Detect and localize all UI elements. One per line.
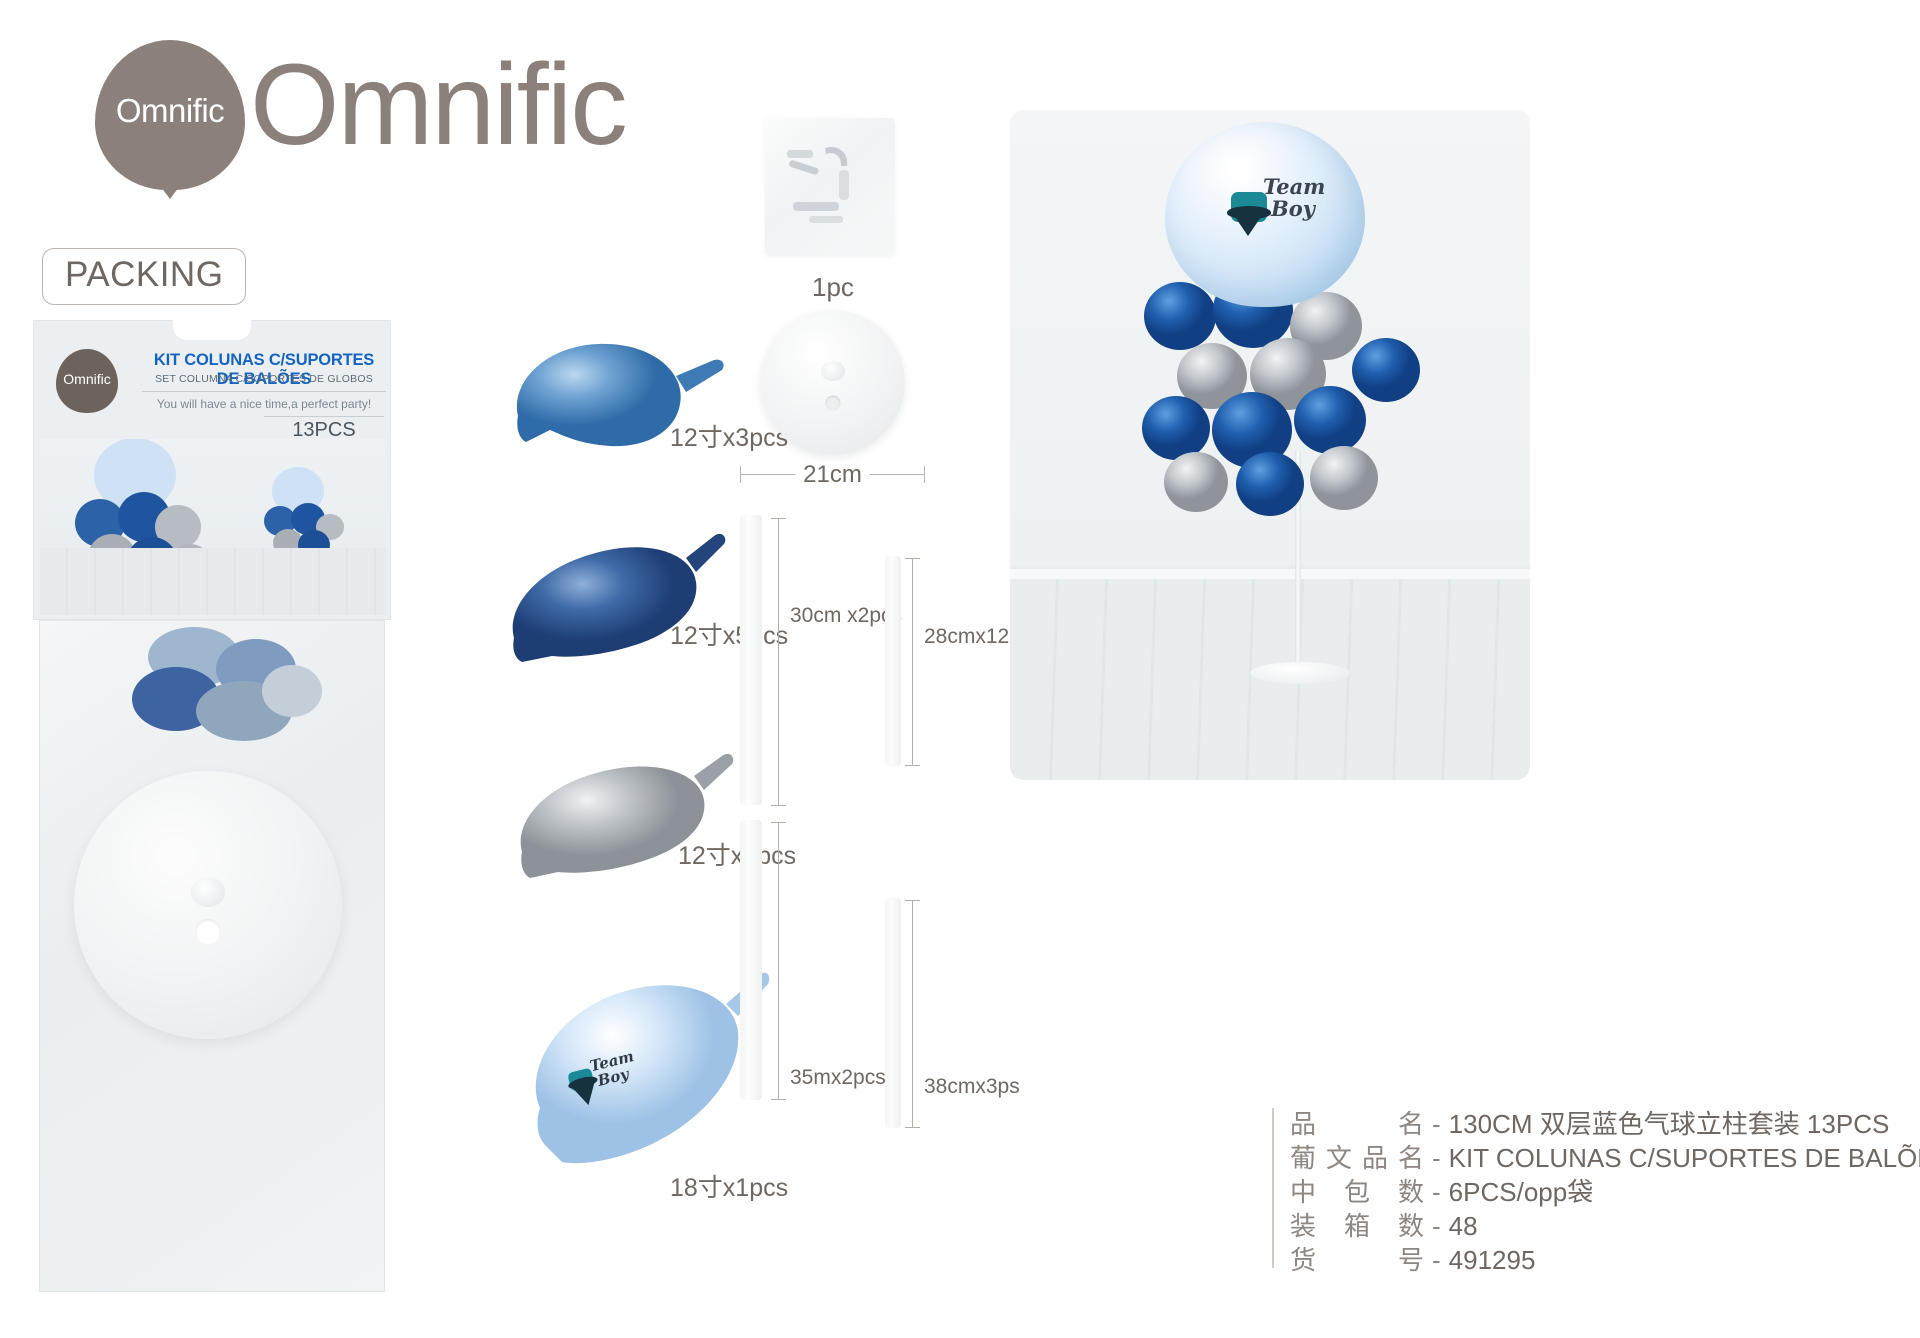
hero-product-photo: Team Boy	[1010, 110, 1530, 780]
balloon-blue-dark-icon	[500, 520, 750, 680]
dimension-line-icon	[778, 822, 779, 1100]
spec-value: 48	[1449, 1211, 1478, 1242]
stick-28cm	[885, 556, 901, 766]
dimension-cap-top-icon	[771, 518, 786, 519]
base-disc-surface	[760, 310, 905, 455]
dimension-cap-top-icon	[905, 558, 920, 559]
spec-row-pt-name: 葡文品名 - KIT COLUNAS C/SUPORTES DE BALÕES	[1272, 1138, 1920, 1172]
dimension-line-icon	[778, 518, 779, 806]
dimension-line-icon	[912, 900, 913, 1128]
stick-35cm	[740, 820, 762, 1100]
dimension-cap-top-icon	[771, 822, 786, 823]
dimension-cap-bottom-icon	[771, 1099, 786, 1100]
stick-38cm	[885, 898, 901, 1128]
packing-card: Omnific KIT COLUNAS C/SUPORTES DE BALÕES…	[33, 320, 391, 1300]
spec-dash: -	[1424, 1211, 1449, 1242]
stick-38cm-dimension: 38cmx3ps	[912, 900, 1042, 1128]
base-hole-icon	[825, 395, 840, 410]
disc-hole-icon	[195, 919, 221, 945]
spec-key: 货号	[1272, 1240, 1424, 1277]
product-spec-table: 品名 - 130CM 双层蓝色气球立柱套装 13PCS 葡文品名 - KIT C…	[1272, 1104, 1920, 1274]
spec-key: 装箱数	[1272, 1206, 1424, 1243]
spec-value: 130CM 双层蓝色气球立柱套装 13PCS	[1449, 1104, 1890, 1141]
balloon-item-2-label: 12寸x5pcs	[670, 616, 788, 652]
spec-value: 491295	[1449, 1245, 1536, 1276]
teamboy-line2: Boy	[1263, 196, 1315, 221]
card-subtitle: SET COLUMNA C/SOPORTES DE GLOBOS	[142, 373, 386, 385]
stand-base-icon	[1250, 662, 1350, 684]
dimension-cap-bottom-icon	[771, 805, 786, 806]
spec-key: 葡文品名	[1272, 1138, 1424, 1175]
accessory-parts-icon	[779, 140, 879, 240]
balloon-knot-icon	[158, 183, 182, 199]
base-hub-icon	[821, 361, 845, 381]
brand-logo-text: Omnific	[95, 92, 245, 130]
stick-35cm-dimension: 35mx2pcs	[778, 822, 898, 1100]
stick-35cm-label: 35mx2pcs	[786, 1063, 890, 1093]
teamboy-script-text: Team Boy	[1263, 176, 1325, 220]
packing-card-header: Omnific KIT COLUNAS C/SUPORTES DE BALÕES…	[33, 320, 391, 620]
spec-value: KIT COLUNAS C/SUPORTES DE BALÕES	[1449, 1143, 1920, 1174]
spec-divider	[1272, 1108, 1274, 1268]
spec-key: 品名	[1272, 1104, 1424, 1141]
dimension-cap-top-icon	[905, 900, 920, 901]
dimension-cap-bottom-icon	[905, 1127, 920, 1128]
accessory-bag-photo	[765, 118, 895, 256]
dimension-cap-right-icon	[924, 466, 925, 483]
hero-teamboy-balloon: Team Boy	[1165, 122, 1365, 307]
packing-bag-photo	[39, 620, 385, 1292]
packing-badge: PACKING	[42, 248, 246, 305]
base-dimension-line: 21cm	[740, 462, 925, 488]
hero-wall-baseboard	[1010, 569, 1530, 579]
brand-logo: Omnific	[95, 40, 245, 205]
base-dimension-label: 21cm	[795, 462, 870, 488]
hero-balloon-cluster-icon	[1140, 270, 1440, 520]
balloon-blue-medium-icon	[500, 330, 750, 480]
spec-dash: -	[1424, 1143, 1449, 1174]
brand-wordmark: Omnific	[250, 48, 626, 163]
spec-key: 中包数	[1272, 1172, 1424, 1209]
card-product-photo	[40, 439, 386, 615]
hang-hole-icon	[173, 320, 251, 340]
dimension-cap-left-icon	[740, 466, 741, 483]
spec-dash: -	[1424, 1177, 1449, 1208]
spec-row-item-no: 货号 - 491295	[1272, 1240, 1920, 1274]
balloon-item-4-label: 18寸x1pcs	[670, 1168, 788, 1204]
disc-hub-icon	[191, 877, 225, 907]
dimension-cap-bottom-icon	[905, 765, 920, 766]
spec-dash: -	[1424, 1109, 1449, 1140]
dimension-line-icon	[912, 558, 913, 766]
stick-30cm-dimension: 30cm x2pcs	[778, 518, 898, 806]
card-logo-text: Omnific	[56, 371, 118, 387]
bag-balloons-icon	[124, 625, 324, 745]
stick-30cm	[740, 515, 762, 805]
spec-value: 6PCS/opp袋	[1449, 1172, 1594, 1209]
teamboy-graphic: Team Boy	[1225, 170, 1321, 242]
stick-38cm-label: 38cmx3ps	[920, 1072, 1024, 1102]
card-slogan: You will have a nice time,a perfect part…	[142, 391, 386, 411]
spec-row-product-name: 品名 - 130CM 双层蓝色气球立柱套装 13PCS	[1272, 1104, 1920, 1138]
base-disc-product	[760, 310, 905, 455]
spec-dash: -	[1424, 1245, 1449, 1276]
base-disc-photo	[74, 771, 342, 1039]
accessory-bag-label: 1pc	[812, 272, 854, 303]
card-photo-floor	[40, 548, 386, 615]
teamboy-mustache-icon	[1227, 206, 1271, 219]
spec-row-inner-pack: 中包数 - 6PCS/opp袋	[1272, 1172, 1920, 1206]
balloon-silver-icon	[510, 740, 760, 900]
spec-row-carton-qty: 装箱数 - 48	[1272, 1206, 1920, 1240]
